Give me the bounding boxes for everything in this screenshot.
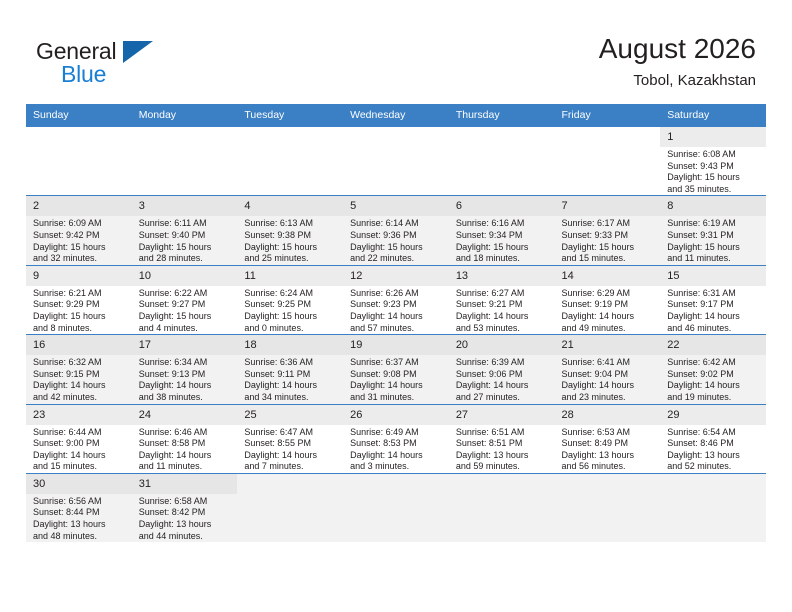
- sunrise-time: Sunrise: 6:13 AM: [244, 218, 338, 230]
- calendar-day-cell[interactable]: 25Sunrise: 6:47 AMSunset: 8:55 PMDayligh…: [237, 404, 343, 473]
- daylight-duration-cont: and 56 minutes.: [562, 461, 656, 473]
- daylight-duration-cont: and 28 minutes.: [139, 253, 233, 265]
- day-number: [237, 127, 343, 147]
- sunset-time: Sunset: 9:33 PM: [562, 230, 656, 242]
- day-number: [237, 474, 343, 494]
- day-number: 13: [449, 266, 555, 286]
- sunrise-time: Sunrise: 6:36 AM: [244, 357, 338, 369]
- daylight-duration: Daylight: 13 hours: [667, 450, 761, 462]
- daylight-duration: Daylight: 15 hours: [244, 242, 338, 254]
- sunset-time: Sunset: 9:27 PM: [139, 299, 233, 311]
- sunset-time: Sunset: 9:02 PM: [667, 369, 761, 381]
- day-number: 1: [660, 127, 766, 147]
- calendar-day-cell[interactable]: 9Sunrise: 6:21 AMSunset: 9:29 PMDaylight…: [26, 265, 132, 334]
- daylight-duration: Daylight: 14 hours: [244, 450, 338, 462]
- calendar-week-row: 2Sunrise: 6:09 AMSunset: 9:42 PMDaylight…: [26, 196, 766, 265]
- logo-text-blue: Blue: [61, 61, 106, 88]
- calendar-empty-cell: [132, 127, 238, 196]
- sunrise-time: Sunrise: 6:49 AM: [350, 427, 444, 439]
- sunrise-time: Sunrise: 6:39 AM: [456, 357, 550, 369]
- calendar-day-cell[interactable]: 22Sunrise: 6:42 AMSunset: 9:02 PMDayligh…: [660, 335, 766, 404]
- calendar-page: General Blue August 2026 Tobol, Kazakhst…: [0, 0, 792, 612]
- daylight-duration-cont: and 59 minutes.: [456, 461, 550, 473]
- sunrise-time: Sunrise: 6:51 AM: [456, 427, 550, 439]
- daylight-duration: Daylight: 13 hours: [456, 450, 550, 462]
- daylight-duration-cont: and 32 minutes.: [33, 253, 127, 265]
- sunrise-time: Sunrise: 6:34 AM: [139, 357, 233, 369]
- sun-details: Sunrise: 6:54 AMSunset: 8:46 PMDaylight:…: [660, 425, 766, 473]
- calendar-day-cell[interactable]: 12Sunrise: 6:26 AMSunset: 9:23 PMDayligh…: [343, 265, 449, 334]
- sunset-time: Sunset: 8:58 PM: [139, 438, 233, 450]
- calendar-week-row: 16Sunrise: 6:32 AMSunset: 9:15 PMDayligh…: [26, 335, 766, 404]
- sunset-time: Sunset: 9:21 PM: [456, 299, 550, 311]
- sunset-time: Sunset: 9:15 PM: [33, 369, 127, 381]
- day-number: 29: [660, 405, 766, 425]
- sun-details: Sunrise: 6:42 AMSunset: 9:02 PMDaylight:…: [660, 355, 766, 403]
- day-number: [555, 127, 661, 147]
- calendar-day-cell[interactable]: 2Sunrise: 6:09 AMSunset: 9:42 PMDaylight…: [26, 196, 132, 265]
- daylight-duration-cont: and 0 minutes.: [244, 323, 338, 335]
- sunrise-time: Sunrise: 6:44 AM: [33, 427, 127, 439]
- sunrise-time: Sunrise: 6:19 AM: [667, 218, 761, 230]
- sunrise-time: Sunrise: 6:09 AM: [33, 218, 127, 230]
- sunset-time: Sunset: 8:51 PM: [456, 438, 550, 450]
- day-number: 31: [132, 474, 238, 494]
- calendar-day-cell[interactable]: 31Sunrise: 6:58 AMSunset: 8:42 PMDayligh…: [132, 473, 238, 542]
- sunrise-time: Sunrise: 6:47 AM: [244, 427, 338, 439]
- calendar-empty-cell: [26, 127, 132, 196]
- daylight-duration-cont: and 35 minutes.: [667, 184, 761, 196]
- sun-details: Sunrise: 6:51 AMSunset: 8:51 PMDaylight:…: [449, 425, 555, 473]
- day-number: 26: [343, 405, 449, 425]
- day-number: [343, 474, 449, 494]
- daylight-duration-cont: and 46 minutes.: [667, 323, 761, 335]
- sun-details: Sunrise: 6:24 AMSunset: 9:25 PMDaylight:…: [237, 286, 343, 334]
- sunset-time: Sunset: 8:42 PM: [139, 507, 233, 519]
- daylight-duration: Daylight: 14 hours: [667, 311, 761, 323]
- daylight-duration-cont: and 8 minutes.: [33, 323, 127, 335]
- day-number: 10: [132, 266, 238, 286]
- calendar-day-cell[interactable]: 6Sunrise: 6:16 AMSunset: 9:34 PMDaylight…: [449, 196, 555, 265]
- daylight-duration: Daylight: 14 hours: [562, 311, 656, 323]
- sunset-time: Sunset: 8:46 PM: [667, 438, 761, 450]
- day-number: [660, 474, 766, 494]
- calendar-day-cell[interactable]: 10Sunrise: 6:22 AMSunset: 9:27 PMDayligh…: [132, 265, 238, 334]
- sun-details: Sunrise: 6:46 AMSunset: 8:58 PMDaylight:…: [132, 425, 238, 473]
- daylight-duration-cont: and 15 minutes.: [33, 461, 127, 473]
- sunrise-time: Sunrise: 6:41 AM: [562, 357, 656, 369]
- sun-details: Sunrise: 6:53 AMSunset: 8:49 PMDaylight:…: [555, 425, 661, 473]
- calendar-empty-cell: [343, 473, 449, 542]
- calendar-day-cell[interactable]: 29Sunrise: 6:54 AMSunset: 8:46 PMDayligh…: [660, 404, 766, 473]
- sun-details: Sunrise: 6:19 AMSunset: 9:31 PMDaylight:…: [660, 216, 766, 264]
- sunrise-time: Sunrise: 6:11 AM: [139, 218, 233, 230]
- daylight-duration-cont: and 18 minutes.: [456, 253, 550, 265]
- day-number: 7: [555, 196, 661, 216]
- daylight-duration-cont: and 27 minutes.: [456, 392, 550, 404]
- calendar-day-cell[interactable]: 4Sunrise: 6:13 AMSunset: 9:38 PMDaylight…: [237, 196, 343, 265]
- day-number: 6: [449, 196, 555, 216]
- daylight-duration: Daylight: 15 hours: [350, 242, 444, 254]
- calendar-day-cell[interactable]: 11Sunrise: 6:24 AMSunset: 9:25 PMDayligh…: [237, 265, 343, 334]
- sun-details: Sunrise: 6:27 AMSunset: 9:21 PMDaylight:…: [449, 286, 555, 334]
- calendar-empty-cell: [449, 473, 555, 542]
- calendar-empty-cell: [555, 127, 661, 196]
- daylight-duration-cont: and 31 minutes.: [350, 392, 444, 404]
- day-number: 15: [660, 266, 766, 286]
- day-number: 23: [26, 405, 132, 425]
- day-number: 8: [660, 196, 766, 216]
- calendar-day-cell[interactable]: 26Sunrise: 6:49 AMSunset: 8:53 PMDayligh…: [343, 404, 449, 473]
- sunset-time: Sunset: 9:19 PM: [562, 299, 656, 311]
- weekday-header-saturday: Saturday: [660, 104, 766, 127]
- calendar-empty-cell: [449, 127, 555, 196]
- daylight-duration-cont: and 49 minutes.: [562, 323, 656, 335]
- sun-details: Sunrise: 6:36 AMSunset: 9:11 PMDaylight:…: [237, 355, 343, 403]
- daylight-duration: Daylight: 13 hours: [562, 450, 656, 462]
- calendar-day-cell[interactable]: 21Sunrise: 6:41 AMSunset: 9:04 PMDayligh…: [555, 335, 661, 404]
- daylight-duration: Daylight: 14 hours: [350, 311, 444, 323]
- sunset-time: Sunset: 9:43 PM: [667, 161, 761, 173]
- sun-details: Sunrise: 6:44 AMSunset: 9:00 PMDaylight:…: [26, 425, 132, 473]
- sunrise-time: Sunrise: 6:29 AM: [562, 288, 656, 300]
- sunrise-time: Sunrise: 6:08 AM: [667, 149, 761, 161]
- sun-details: Sunrise: 6:58 AMSunset: 8:42 PMDaylight:…: [132, 494, 238, 542]
- sunrise-time: Sunrise: 6:14 AM: [350, 218, 444, 230]
- calendar-table: Sunday Monday Tuesday Wednesday Thursday…: [26, 104, 766, 542]
- daylight-duration: Daylight: 14 hours: [33, 380, 127, 392]
- sunset-time: Sunset: 9:08 PM: [350, 369, 444, 381]
- daylight-duration-cont: and 34 minutes.: [244, 392, 338, 404]
- sunset-time: Sunset: 9:31 PM: [667, 230, 761, 242]
- day-number: 2: [26, 196, 132, 216]
- daylight-duration: Daylight: 14 hours: [562, 380, 656, 392]
- page-title: August 2026: [599, 32, 756, 66]
- sunset-time: Sunset: 9:42 PM: [33, 230, 127, 242]
- daylight-duration-cont: and 44 minutes.: [139, 531, 233, 543]
- sun-details: Sunrise: 6:16 AMSunset: 9:34 PMDaylight:…: [449, 216, 555, 264]
- day-number: 30: [26, 474, 132, 494]
- calendar-empty-cell: [343, 127, 449, 196]
- daylight-duration-cont: and 52 minutes.: [667, 461, 761, 473]
- daylight-duration-cont: and 3 minutes.: [350, 461, 444, 473]
- daylight-duration-cont: and 25 minutes.: [244, 253, 338, 265]
- calendar-day-cell[interactable]: 3Sunrise: 6:11 AMSunset: 9:40 PMDaylight…: [132, 196, 238, 265]
- calendar-day-cell[interactable]: 24Sunrise: 6:46 AMSunset: 8:58 PMDayligh…: [132, 404, 238, 473]
- sunset-time: Sunset: 9:25 PM: [244, 299, 338, 311]
- sunset-time: Sunset: 9:38 PM: [244, 230, 338, 242]
- sunset-time: Sunset: 9:04 PM: [562, 369, 656, 381]
- sunrise-time: Sunrise: 6:53 AM: [562, 427, 656, 439]
- day-number: 11: [237, 266, 343, 286]
- daylight-duration: Daylight: 14 hours: [244, 380, 338, 392]
- sun-details: Sunrise: 6:17 AMSunset: 9:33 PMDaylight:…: [555, 216, 661, 264]
- sun-details: Sunrise: 6:49 AMSunset: 8:53 PMDaylight:…: [343, 425, 449, 473]
- calendar-day-cell[interactable]: 20Sunrise: 6:39 AMSunset: 9:06 PMDayligh…: [449, 335, 555, 404]
- calendar-empty-cell: [555, 473, 661, 542]
- sunrise-time: Sunrise: 6:54 AM: [667, 427, 761, 439]
- calendar-day-cell[interactable]: 7Sunrise: 6:17 AMSunset: 9:33 PMDaylight…: [555, 196, 661, 265]
- sunrise-time: Sunrise: 6:58 AM: [139, 496, 233, 508]
- calendar-day-cell[interactable]: 14Sunrise: 6:29 AMSunset: 9:19 PMDayligh…: [555, 265, 661, 334]
- daylight-duration: Daylight: 15 hours: [139, 242, 233, 254]
- day-number: 19: [343, 335, 449, 355]
- day-number: 17: [132, 335, 238, 355]
- day-number: 4: [237, 196, 343, 216]
- daylight-duration: Daylight: 14 hours: [667, 380, 761, 392]
- daylight-duration: Daylight: 15 hours: [139, 311, 233, 323]
- sunset-time: Sunset: 8:55 PM: [244, 438, 338, 450]
- sun-details: Sunrise: 6:37 AMSunset: 9:08 PMDaylight:…: [343, 355, 449, 403]
- sunrise-time: Sunrise: 6:46 AM: [139, 427, 233, 439]
- daylight-duration: Daylight: 14 hours: [456, 380, 550, 392]
- day-number: [555, 474, 661, 494]
- sunrise-time: Sunrise: 6:56 AM: [33, 496, 127, 508]
- general-blue-logo[interactable]: General Blue: [36, 38, 186, 90]
- calendar-week-row: 30Sunrise: 6:56 AMSunset: 8:44 PMDayligh…: [26, 473, 766, 542]
- sunset-time: Sunset: 9:06 PM: [456, 369, 550, 381]
- daylight-duration: Daylight: 14 hours: [33, 450, 127, 462]
- sunset-time: Sunset: 9:29 PM: [33, 299, 127, 311]
- day-number: 24: [132, 405, 238, 425]
- daylight-duration: Daylight: 15 hours: [562, 242, 656, 254]
- daylight-duration-cont: and 23 minutes.: [562, 392, 656, 404]
- day-number: 21: [555, 335, 661, 355]
- sunrise-time: Sunrise: 6:31 AM: [667, 288, 761, 300]
- day-number: 5: [343, 196, 449, 216]
- calendar-day-cell[interactable]: 17Sunrise: 6:34 AMSunset: 9:13 PMDayligh…: [132, 335, 238, 404]
- sun-details: Sunrise: 6:13 AMSunset: 9:38 PMDaylight:…: [237, 216, 343, 264]
- sunrise-time: Sunrise: 6:42 AM: [667, 357, 761, 369]
- sunrise-time: Sunrise: 6:27 AM: [456, 288, 550, 300]
- day-number: 9: [26, 266, 132, 286]
- day-number: 3: [132, 196, 238, 216]
- sun-details: Sunrise: 6:34 AMSunset: 9:13 PMDaylight:…: [132, 355, 238, 403]
- calendar-day-cell[interactable]: 5Sunrise: 6:14 AMSunset: 9:36 PMDaylight…: [343, 196, 449, 265]
- calendar-day-cell[interactable]: 13Sunrise: 6:27 AMSunset: 9:21 PMDayligh…: [449, 265, 555, 334]
- weekday-header-friday: Friday: [555, 104, 661, 127]
- day-number: 25: [237, 405, 343, 425]
- daylight-duration-cont: and 38 minutes.: [139, 392, 233, 404]
- sun-details: Sunrise: 6:14 AMSunset: 9:36 PMDaylight:…: [343, 216, 449, 264]
- sun-details: Sunrise: 6:09 AMSunset: 9:42 PMDaylight:…: [26, 216, 132, 264]
- day-number: 14: [555, 266, 661, 286]
- weekday-header-row: Sunday Monday Tuesday Wednesday Thursday…: [26, 104, 766, 127]
- daylight-duration-cont: and 42 minutes.: [33, 392, 127, 404]
- day-number: 22: [660, 335, 766, 355]
- sun-details: Sunrise: 6:47 AMSunset: 8:55 PMDaylight:…: [237, 425, 343, 473]
- sun-details: Sunrise: 6:39 AMSunset: 9:06 PMDaylight:…: [449, 355, 555, 403]
- calendar-day-cell[interactable]: 8Sunrise: 6:19 AMSunset: 9:31 PMDaylight…: [660, 196, 766, 265]
- calendar-week-row: 1Sunrise: 6:08 AMSunset: 9:43 PMDaylight…: [26, 127, 766, 196]
- day-number: 16: [26, 335, 132, 355]
- daylight-duration-cont: and 22 minutes.: [350, 253, 444, 265]
- sunset-time: Sunset: 8:53 PM: [350, 438, 444, 450]
- sunset-time: Sunset: 9:34 PM: [456, 230, 550, 242]
- daylight-duration: Daylight: 15 hours: [667, 242, 761, 254]
- sunset-time: Sunset: 9:40 PM: [139, 230, 233, 242]
- sunrise-time: Sunrise: 6:16 AM: [456, 218, 550, 230]
- weekday-header-thursday: Thursday: [449, 104, 555, 127]
- calendar-day-cell[interactable]: 23Sunrise: 6:44 AMSunset: 9:00 PMDayligh…: [26, 404, 132, 473]
- calendar-day-cell[interactable]: 28Sunrise: 6:53 AMSunset: 8:49 PMDayligh…: [555, 404, 661, 473]
- day-number: [26, 127, 132, 147]
- sunrise-time: Sunrise: 6:17 AM: [562, 218, 656, 230]
- daylight-duration-cont: and 48 minutes.: [33, 531, 127, 543]
- daylight-duration: Daylight: 13 hours: [139, 519, 233, 531]
- page-header: General Blue August 2026 Tobol, Kazakhst…: [0, 0, 792, 104]
- sunset-time: Sunset: 9:13 PM: [139, 369, 233, 381]
- daylight-duration-cont: and 4 minutes.: [139, 323, 233, 335]
- sunset-time: Sunset: 9:23 PM: [350, 299, 444, 311]
- sun-details: Sunrise: 6:32 AMSunset: 9:15 PMDaylight:…: [26, 355, 132, 403]
- blue-triangle-logo-icon: [123, 41, 153, 63]
- sunset-time: Sunset: 8:49 PM: [562, 438, 656, 450]
- sun-details: Sunrise: 6:41 AMSunset: 9:04 PMDaylight:…: [555, 355, 661, 403]
- daylight-duration: Daylight: 15 hours: [244, 311, 338, 323]
- day-number: 20: [449, 335, 555, 355]
- daylight-duration: Daylight: 15 hours: [456, 242, 550, 254]
- calendar-week-row: 9Sunrise: 6:21 AMSunset: 9:29 PMDaylight…: [26, 265, 766, 334]
- day-number: [343, 127, 449, 147]
- calendar-body: 1Sunrise: 6:08 AMSunset: 9:43 PMDaylight…: [26, 127, 766, 543]
- sunrise-time: Sunrise: 6:32 AM: [33, 357, 127, 369]
- sunset-time: Sunset: 9:11 PM: [244, 369, 338, 381]
- sunset-time: Sunset: 9:00 PM: [33, 438, 127, 450]
- sun-details: Sunrise: 6:56 AMSunset: 8:44 PMDaylight:…: [26, 494, 132, 542]
- weekday-header-tuesday: Tuesday: [237, 104, 343, 127]
- weekday-header-wednesday: Wednesday: [343, 104, 449, 127]
- daylight-duration-cont: and 15 minutes.: [562, 253, 656, 265]
- daylight-duration-cont: and 11 minutes.: [667, 253, 761, 265]
- sunrise-time: Sunrise: 6:21 AM: [33, 288, 127, 300]
- calendar-day-cell[interactable]: 15Sunrise: 6:31 AMSunset: 9:17 PMDayligh…: [660, 265, 766, 334]
- daylight-duration-cont: and 19 minutes.: [667, 392, 761, 404]
- sunset-time: Sunset: 9:17 PM: [667, 299, 761, 311]
- daylight-duration-cont: and 11 minutes.: [139, 461, 233, 473]
- daylight-duration: Daylight: 14 hours: [139, 450, 233, 462]
- sunset-time: Sunset: 8:44 PM: [33, 507, 127, 519]
- calendar-empty-cell: [237, 473, 343, 542]
- day-number: 27: [449, 405, 555, 425]
- calendar-day-cell[interactable]: 19Sunrise: 6:37 AMSunset: 9:08 PMDayligh…: [343, 335, 449, 404]
- daylight-duration-cont: and 53 minutes.: [456, 323, 550, 335]
- daylight-duration: Daylight: 13 hours: [33, 519, 127, 531]
- sunrise-time: Sunrise: 6:37 AM: [350, 357, 444, 369]
- calendar-day-cell[interactable]: 16Sunrise: 6:32 AMSunset: 9:15 PMDayligh…: [26, 335, 132, 404]
- page-subtitle: Tobol, Kazakhstan: [599, 70, 756, 92]
- day-number: 18: [237, 335, 343, 355]
- weekday-header-monday: Monday: [132, 104, 238, 127]
- calendar-day-cell[interactable]: 27Sunrise: 6:51 AMSunset: 8:51 PMDayligh…: [449, 404, 555, 473]
- daylight-duration: Daylight: 15 hours: [33, 311, 127, 323]
- sunrise-time: Sunrise: 6:24 AM: [244, 288, 338, 300]
- day-number: [449, 127, 555, 147]
- daylight-duration: Daylight: 14 hours: [456, 311, 550, 323]
- calendar-day-cell[interactable]: 30Sunrise: 6:56 AMSunset: 8:44 PMDayligh…: [26, 473, 132, 542]
- calendar-day-cell[interactable]: 18Sunrise: 6:36 AMSunset: 9:11 PMDayligh…: [237, 335, 343, 404]
- daylight-duration: Daylight: 15 hours: [33, 242, 127, 254]
- sun-details: Sunrise: 6:26 AMSunset: 9:23 PMDaylight:…: [343, 286, 449, 334]
- calendar-week-row: 23Sunrise: 6:44 AMSunset: 9:00 PMDayligh…: [26, 404, 766, 473]
- day-number: [132, 127, 238, 147]
- calendar-day-cell[interactable]: 1Sunrise: 6:08 AMSunset: 9:43 PMDaylight…: [660, 127, 766, 196]
- daylight-duration: Daylight: 15 hours: [667, 172, 761, 184]
- daylight-duration-cont: and 7 minutes.: [244, 461, 338, 473]
- sun-details: Sunrise: 6:31 AMSunset: 9:17 PMDaylight:…: [660, 286, 766, 334]
- sun-details: Sunrise: 6:08 AMSunset: 9:43 PMDaylight:…: [660, 147, 766, 195]
- sunrise-time: Sunrise: 6:26 AM: [350, 288, 444, 300]
- day-number: [449, 474, 555, 494]
- sun-details: Sunrise: 6:21 AMSunset: 9:29 PMDaylight:…: [26, 286, 132, 334]
- sunset-time: Sunset: 9:36 PM: [350, 230, 444, 242]
- sun-details: Sunrise: 6:11 AMSunset: 9:40 PMDaylight:…: [132, 216, 238, 264]
- sunrise-time: Sunrise: 6:22 AM: [139, 288, 233, 300]
- sun-details: Sunrise: 6:29 AMSunset: 9:19 PMDaylight:…: [555, 286, 661, 334]
- daylight-duration: Daylight: 14 hours: [350, 380, 444, 392]
- sun-details: Sunrise: 6:22 AMSunset: 9:27 PMDaylight:…: [132, 286, 238, 334]
- title-block: August 2026 Tobol, Kazakhstan: [599, 32, 756, 92]
- calendar-empty-cell: [237, 127, 343, 196]
- daylight-duration-cont: and 57 minutes.: [350, 323, 444, 335]
- calendar-empty-cell: [660, 473, 766, 542]
- daylight-duration: Daylight: 14 hours: [139, 380, 233, 392]
- day-number: 12: [343, 266, 449, 286]
- daylight-duration: Daylight: 14 hours: [350, 450, 444, 462]
- weekday-header-sunday: Sunday: [26, 104, 132, 127]
- day-number: 28: [555, 405, 661, 425]
